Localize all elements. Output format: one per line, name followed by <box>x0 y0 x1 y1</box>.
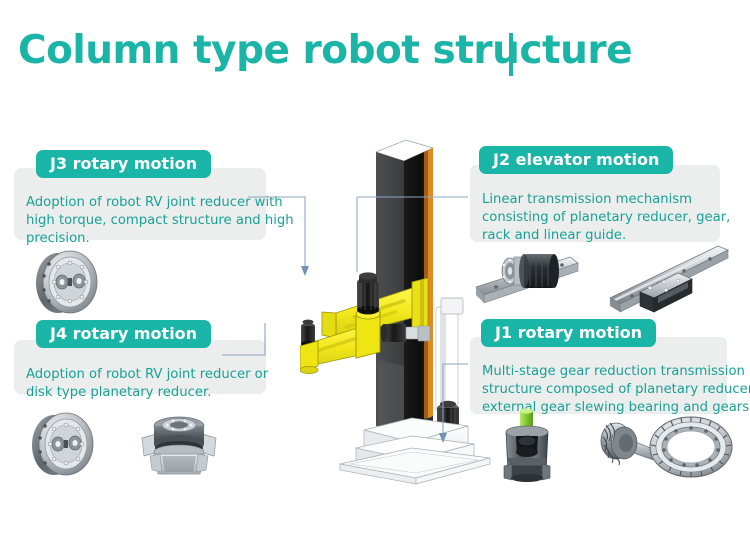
callout-badge-j3: J3 rotary motion <box>36 150 211 178</box>
callout-badge-j4: J4 rotary motion <box>36 320 211 348</box>
callout-line: Adoption of robot RV joint reducer or <box>26 366 254 384</box>
j2-drive-motor <box>381 324 430 342</box>
callout-panel-j3: Adoption of robot RV joint reducer with … <box>14 168 266 240</box>
diagram-canvas: Column type robot structure <box>0 0 750 552</box>
linear-guide-column-rail <box>436 298 463 410</box>
rv-reducer-photo <box>24 246 106 318</box>
j3-joint-motor <box>357 272 379 314</box>
callout-badge-j2: J2 elevator motion <box>479 146 673 174</box>
callout-text-j4: Adoption of robot RV joint reducer or di… <box>14 340 266 412</box>
disk-planetary-reducer-photo <box>136 410 222 480</box>
rv-reducer-photo <box>20 408 102 480</box>
slewing-bearing-photo <box>648 412 734 482</box>
linear-guide-rail-photo <box>606 240 732 316</box>
page-title: Column type robot structure <box>18 28 632 73</box>
callout-line: high torque, compact structure and high <box>26 212 254 230</box>
callout-badge-j1: J1 rotary motion <box>481 319 656 347</box>
callout-panel-j4: Adoption of robot RV joint reducer or di… <box>14 340 266 394</box>
column-type-robot-illustration <box>300 130 520 490</box>
title-text-caret <box>509 33 513 76</box>
callout-line: Adoption of robot RV joint reducer with <box>26 194 254 212</box>
j4-joint-motor <box>300 320 318 374</box>
callout-line: disk type planetary reducer. <box>26 384 254 402</box>
